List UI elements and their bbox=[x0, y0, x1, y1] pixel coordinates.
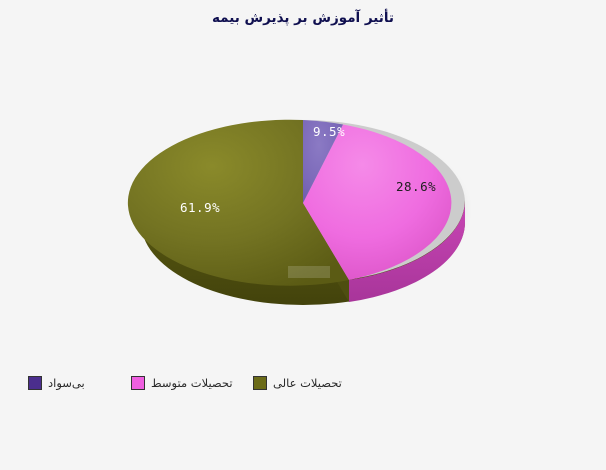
legend-swatch-illiterate bbox=[28, 376, 42, 390]
legend-item-high-education[interactable]: تحصیلات عالی bbox=[253, 372, 342, 394]
legend-label-illiterate: بی‌سواد bbox=[48, 376, 85, 390]
chart-legend: بی‌سواد تحصیلات متوسط تحصیلات عالی bbox=[0, 372, 606, 402]
legend-label-medium-education: تحصیلات متوسط bbox=[151, 376, 233, 390]
chart-title: تأثیر آموزش بر پذیرش بیمه bbox=[0, 10, 606, 26]
legend-swatch-medium-education bbox=[131, 376, 145, 390]
legend-item-illiterate[interactable]: بی‌سواد bbox=[28, 372, 85, 394]
legend-swatch-high-education bbox=[253, 376, 267, 390]
legend-label-high-education: تحصیلات عالی bbox=[273, 376, 342, 390]
pie-chart-figure: تأثیر آموزش بر پذیرش بیمه bbox=[0, 0, 606, 470]
legend-item-medium-education[interactable]: تحصیلات متوسط bbox=[131, 372, 233, 394]
pie-svg bbox=[140, 100, 470, 300]
pie-plot-area: 9.5% 28.6% 61.9% bbox=[140, 100, 470, 300]
